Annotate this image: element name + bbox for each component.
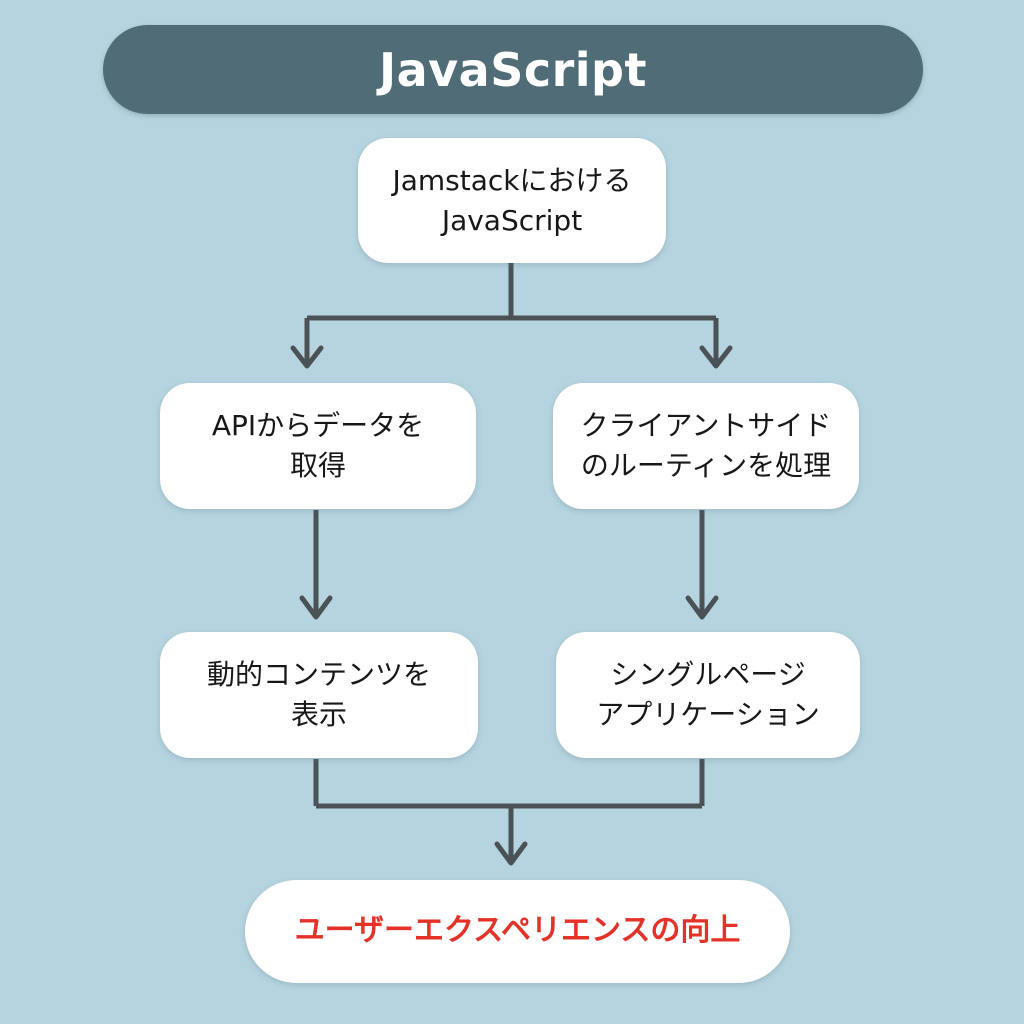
edge-client-spa <box>688 510 716 617</box>
node-root[interactable]: Jamstackにおける JavaScript <box>358 138 666 263</box>
node-root-label: Jamstackにおける JavaScript <box>382 161 641 241</box>
node-client-routing[interactable]: クライアントサイド のルーティンを処理 <box>553 383 859 509</box>
diagram-canvas: JavaScript <box>0 0 1024 1024</box>
node-dynamic-content[interactable]: 動的コンテンツを 表示 <box>160 632 478 758</box>
node-dynamic-content-label: 動的コンテンツを 表示 <box>197 655 441 735</box>
node-user-experience-label: ユーザーエクスペリエンスの向上 <box>285 910 751 953</box>
page-title: JavaScript <box>379 47 647 93</box>
header-banner: JavaScript <box>103 25 923 114</box>
node-single-page-application[interactable]: シングルページ アプリケーション <box>556 632 860 758</box>
edge-api-dynamic <box>302 510 330 617</box>
edge-merge-final <box>316 759 702 863</box>
node-user-experience[interactable]: ユーザーエクスペリエンスの向上 <box>245 880 790 983</box>
node-client-routing-label: クライアントサイド のルーティンを処理 <box>571 406 842 486</box>
edge-root-split <box>293 263 730 366</box>
node-single-page-application-label: シングルページ アプリケーション <box>586 655 829 735</box>
node-api-fetch[interactable]: APIからデータを 取得 <box>160 383 476 509</box>
node-api-fetch-label: APIからデータを 取得 <box>202 406 434 486</box>
